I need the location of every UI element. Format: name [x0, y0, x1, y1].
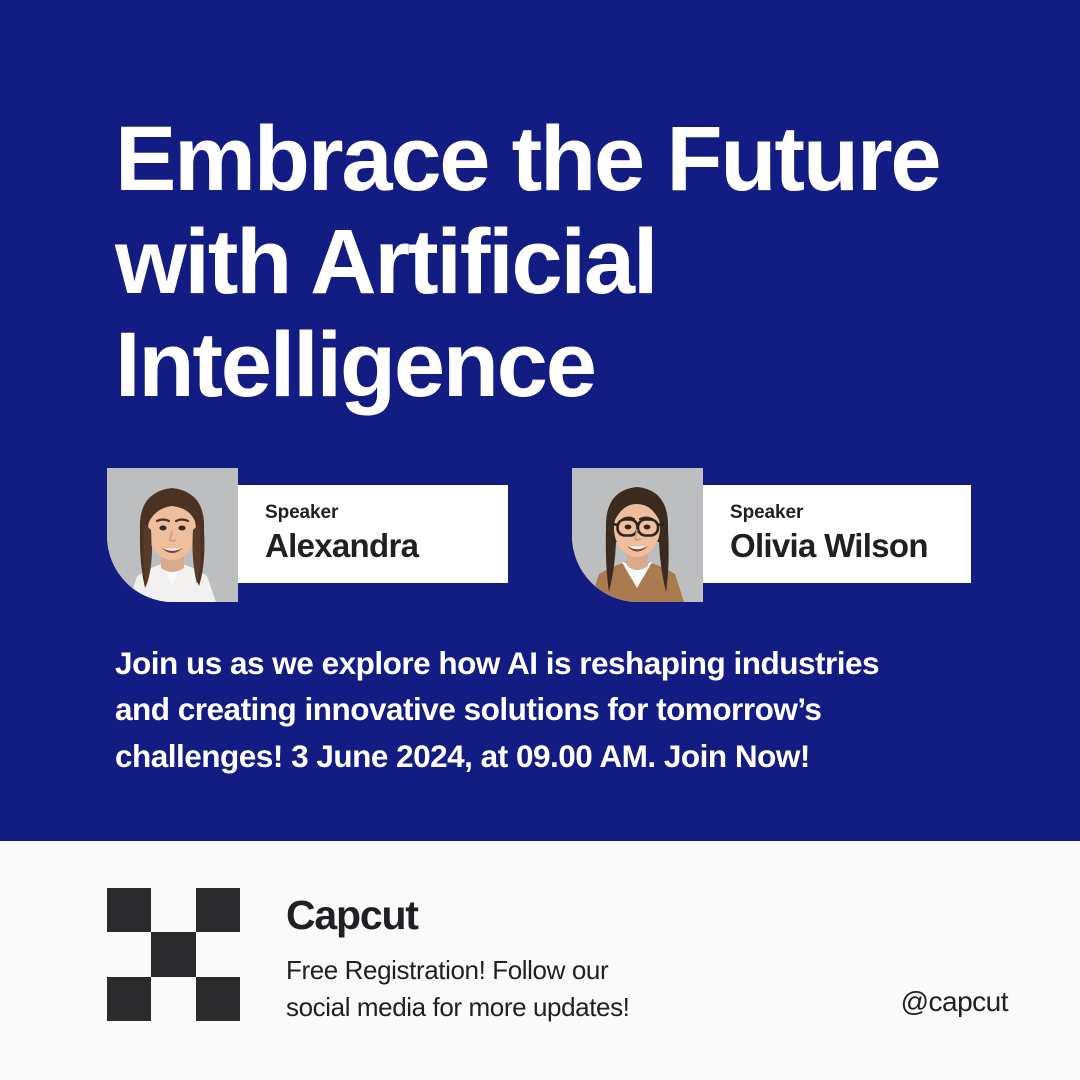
poster-canvas: Embrace the Future with Artificial Intel… — [0, 0, 1080, 1080]
speaker-photo-alexandra — [107, 468, 238, 602]
speaker-role-label: Speaker — [730, 503, 971, 524]
speaker-list: Speaker Alexandra — [107, 468, 987, 603]
body-line-3: challenges! 3 June 2024, at 09.00 AM. Jo… — [115, 733, 995, 779]
checkerboard-x-logo-icon — [107, 888, 240, 1021]
speaker-namebox-alexandra: Speaker Alexandra — [238, 485, 508, 583]
tagline-line-1: Free Registration! Follow our — [286, 952, 756, 989]
tagline-line-2: social media for more updates! — [286, 989, 756, 1026]
body-line-1: Join us as we explore how AI is reshapin… — [115, 640, 995, 686]
speaker-card-olivia-wilson: Speaker Olivia Wilson — [572, 468, 971, 603]
speaker-card-alexandra: Speaker Alexandra — [107, 468, 508, 603]
page-title: Embrace the Future with Artificial Intel… — [115, 108, 1015, 417]
headline-line-3: Intelligence — [115, 314, 1015, 417]
logo-cell-7 — [107, 977, 151, 1021]
speaker-photo-olivia-wilson — [572, 468, 703, 602]
headline-line-2: with Artificial — [115, 211, 1015, 314]
headline-line-1: Embrace the Future — [115, 108, 1015, 211]
logo-cell-9 — [196, 977, 240, 1021]
speaker-role-label: Speaker — [265, 503, 508, 524]
logo-cell-4 — [107, 932, 151, 976]
logo-cell-2 — [151, 888, 195, 932]
logo-cell-8 — [151, 977, 195, 1021]
event-description: Join us as we explore how AI is reshapin… — [115, 640, 995, 779]
social-handle[interactable]: @capcut — [901, 986, 1008, 1018]
speaker-name: Alexandra — [265, 527, 508, 565]
logo-cell-6 — [196, 932, 240, 976]
logo-cell-5 — [151, 932, 195, 976]
brand-block: Capcut Free Registration! Follow our soc… — [286, 893, 756, 1026]
body-line-2: and creating innovative solutions for to… — [115, 686, 995, 732]
speaker-namebox-olivia-wilson: Speaker Olivia Wilson — [703, 485, 971, 583]
speaker-name: Olivia Wilson — [730, 527, 971, 565]
brand-tagline: Free Registration! Follow our social med… — [286, 952, 756, 1026]
logo-cell-1 — [107, 888, 151, 932]
logo-cell-3 — [196, 888, 240, 932]
brand-name: Capcut — [286, 893, 756, 938]
